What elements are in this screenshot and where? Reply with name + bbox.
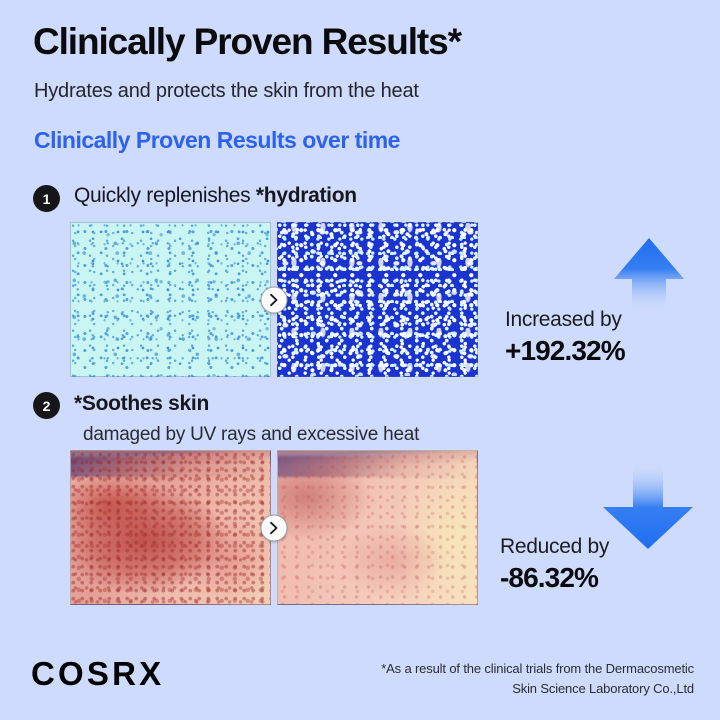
stat-soothing-value: -86.32%: [500, 562, 609, 594]
claim-text-1-plain: Quickly replenishes: [74, 184, 256, 207]
skin-after-brow-detail: [277, 456, 478, 477]
comparison-pair-soothing: [70, 450, 478, 605]
claim-number-badge-2: 2: [33, 392, 60, 419]
hydration-after-image: [277, 222, 478, 377]
footnote: *As a result of the clinical trials from…: [381, 659, 694, 699]
footnote-line-2: Skin Science Laboratory Co.,Ltd: [381, 679, 694, 699]
page-title: Clinically Proven Results*: [33, 22, 461, 63]
claim-text-1-bold: *hydration: [256, 184, 357, 207]
claim-text-2-sub: damaged by UV rays and excessive heat: [83, 424, 419, 446]
chevron-right-icon[interactable]: [261, 286, 288, 313]
skin-before-brow-detail: [70, 457, 271, 477]
stat-hydration: Increased by +192.32%: [505, 308, 625, 367]
footnote-line-1: *As a result of the clinical trials from…: [381, 659, 694, 679]
hydration-before-image: [70, 222, 271, 377]
claim-number-2: 2: [43, 399, 51, 413]
skin-before-image: [70, 450, 271, 605]
page-subtitle: Hydrates and protects the skin from the …: [34, 80, 419, 103]
arrow-down-icon: [600, 460, 696, 552]
chevron-right-icon[interactable]: [261, 514, 288, 541]
claim-number-badge-1: 1: [33, 185, 60, 212]
comparison-pair-hydration: [70, 222, 478, 377]
brand-logo: COSRX: [31, 657, 164, 690]
claim-number-1: 1: [43, 192, 51, 206]
stat-soothing-label: Reduced by: [500, 535, 609, 559]
stat-hydration-value: +192.32%: [505, 335, 625, 367]
infographic-page: Clinically Proven Results* Hydrates and …: [0, 0, 720, 720]
claim-text-1: Quickly replenishes *hydration: [74, 184, 357, 208]
stat-soothing: Reduced by -86.32%: [500, 535, 609, 594]
stat-hydration-label: Increased by: [505, 308, 625, 332]
arrow-up-icon: [612, 236, 686, 312]
section-heading: Clinically Proven Results over time: [34, 127, 400, 154]
skin-after-image: [277, 450, 478, 605]
claim-text-2: *Soothes skin: [74, 392, 209, 416]
